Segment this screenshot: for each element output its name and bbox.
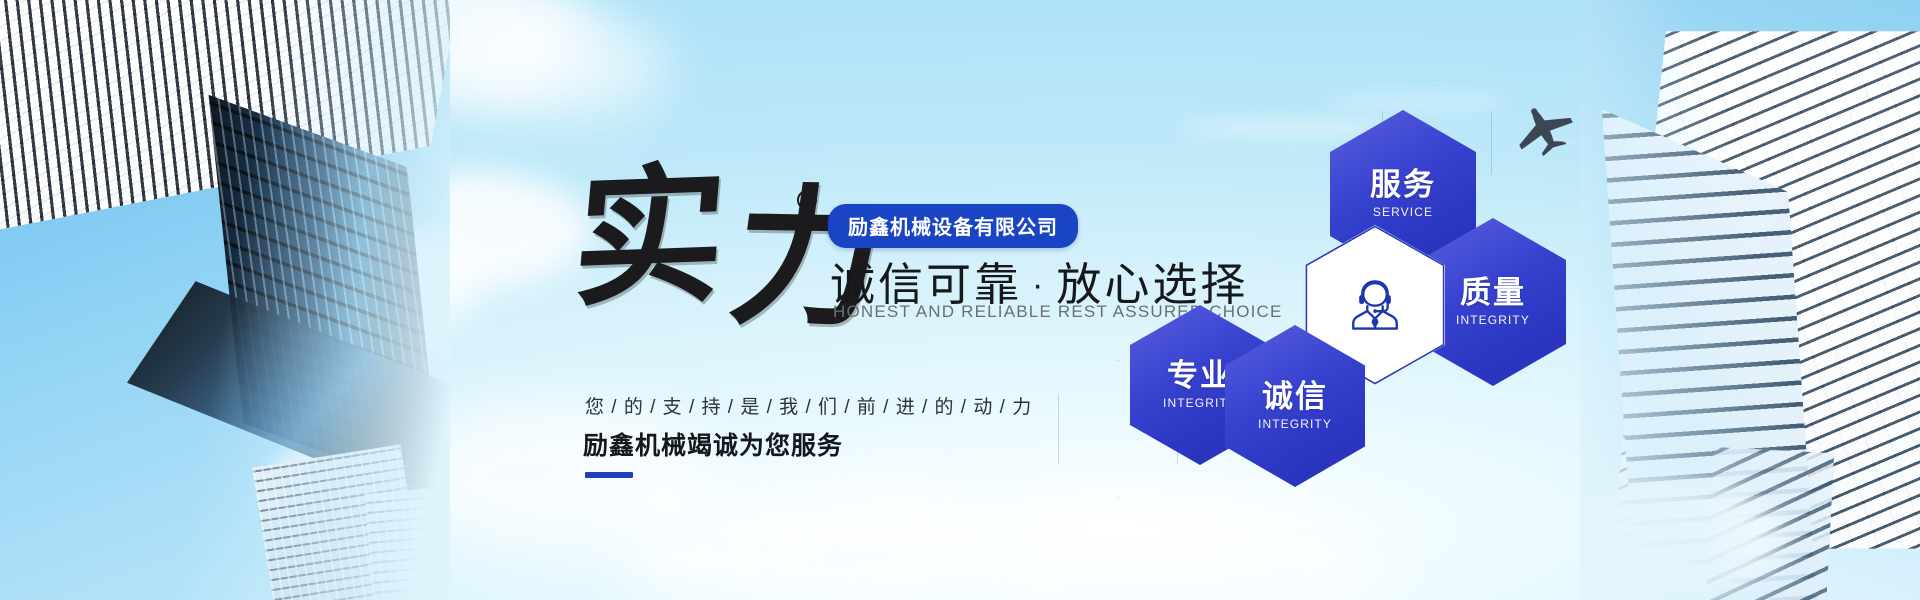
hexagon-professional-label-cn: 专业: [1167, 360, 1233, 393]
left-skyscraper-image: [0, 0, 450, 600]
subline-separated: 您 / 的 / 支 / 持 / 是 / 我 / 们 / 前 / 进 / 的 / …: [585, 392, 1032, 419]
cloud-puff: [980, 500, 1400, 600]
right-edge-fade: [1580, 0, 1920, 600]
promo-banner: 实力 励鑫机械设备有限公司 诚信可靠·放心选择 HONEST AND RELIA…: [0, 0, 1920, 600]
company-name-badge: 励鑫机械设备有限公司: [828, 204, 1078, 248]
hexagon-quality-label-en: INTEGRITY: [1456, 313, 1530, 327]
hexagon-honesty-label-en: INTEGRITY: [1258, 417, 1332, 431]
accent-bar: [585, 472, 633, 478]
left-edge-fade: [0, 0, 450, 600]
seal-dot-icon: [797, 190, 817, 210]
cloud-wisp: [720, 520, 980, 542]
hexagon-honesty-label-cn: 诚信: [1262, 381, 1328, 414]
customer-service-agent-icon: [1346, 276, 1404, 334]
hexagon-service-label-en: SERVICE: [1373, 205, 1433, 219]
right-skyscraper-image: [1580, 0, 1920, 600]
hexagon-service-label-cn: 服务: [1370, 169, 1436, 202]
calligraphy-char-1: 实: [567, 147, 727, 328]
subline-service: 励鑫机械竭诚为您服务: [583, 426, 843, 462]
cloud-wisp: [640, 552, 840, 568]
cloud-puff: [470, 10, 670, 120]
hexagon-cluster: 服务 SERVICE 质量 INTEGRITY: [1120, 110, 1600, 510]
hexagon-quality-label-cn: 质量: [1460, 277, 1526, 310]
cloud-puff: [620, 470, 1000, 600]
slogan-separator-dot: ·: [1022, 266, 1056, 304]
